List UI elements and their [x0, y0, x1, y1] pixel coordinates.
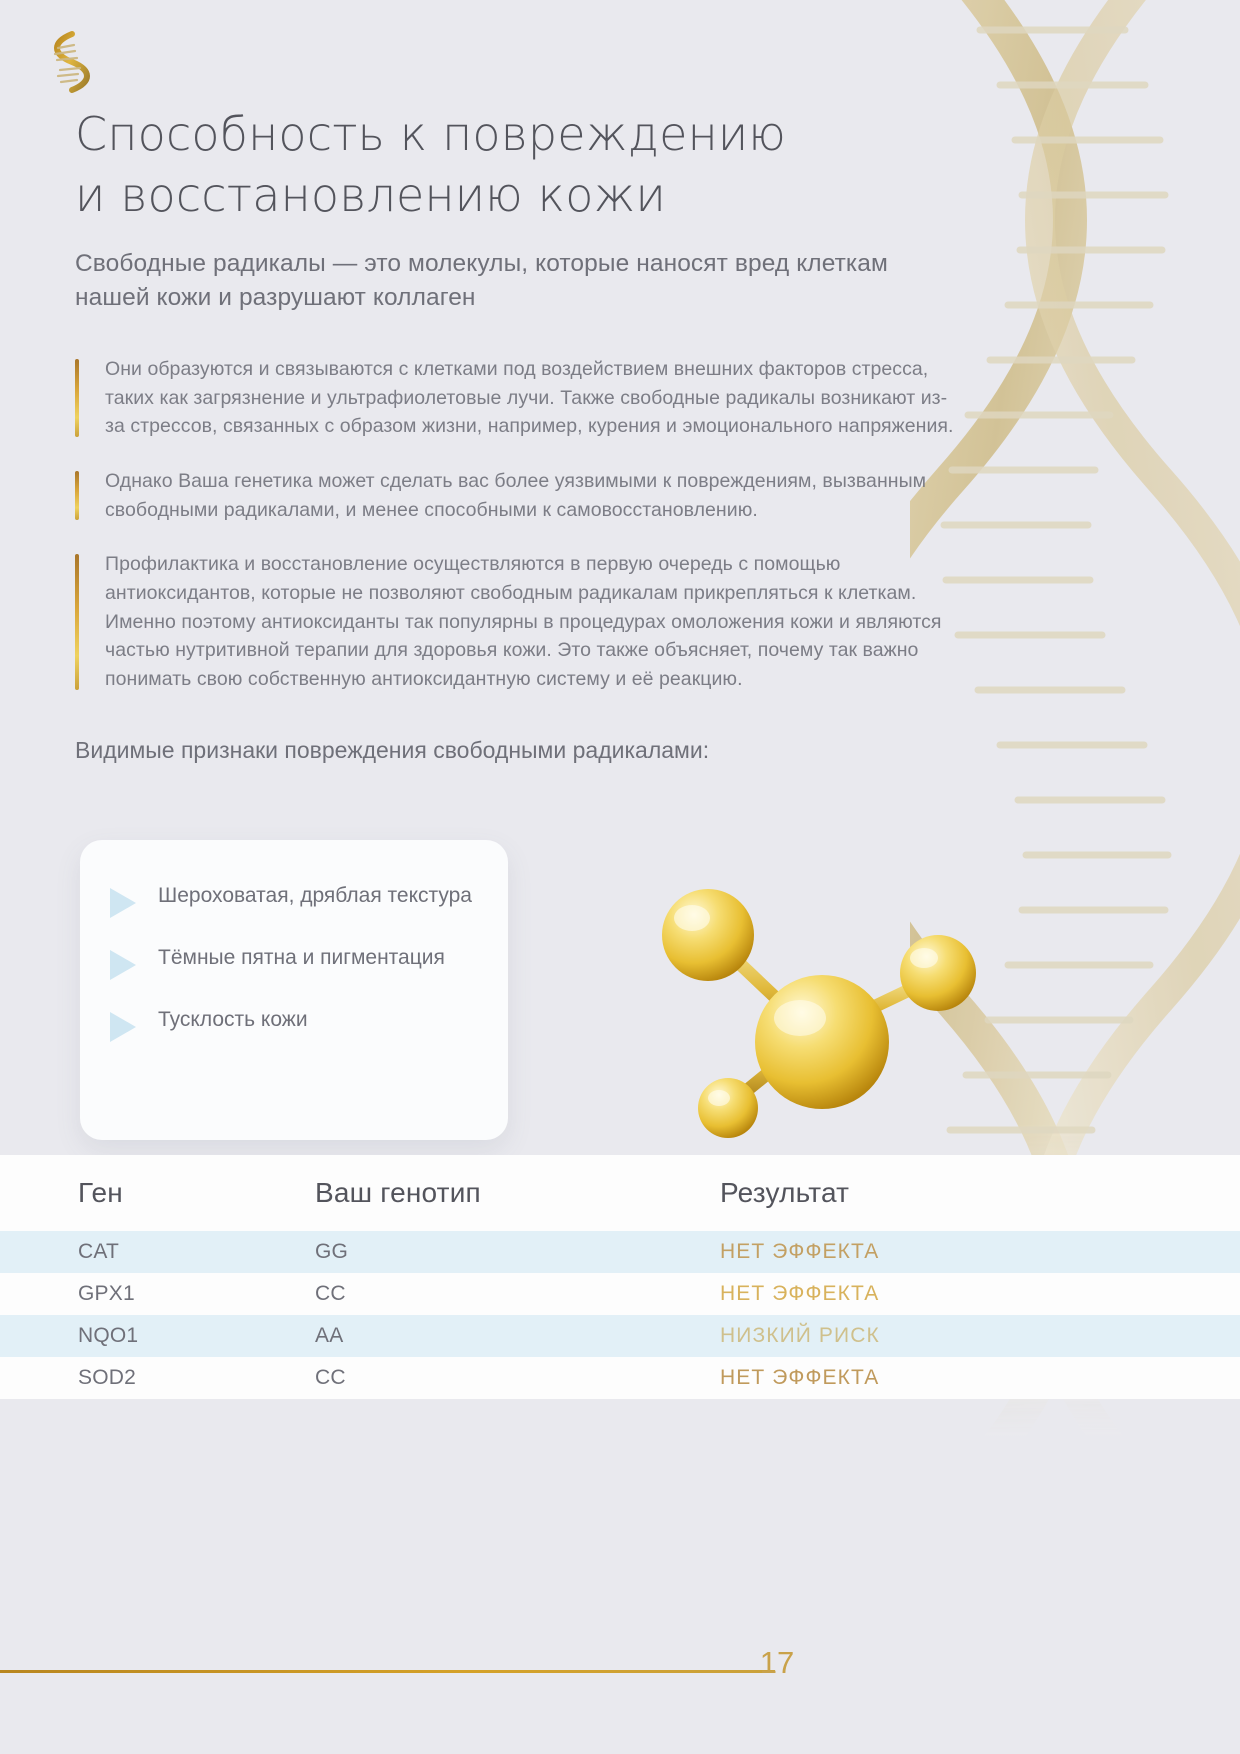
info-block-text: Однако Ваша генетика может сделать вас б…: [105, 467, 955, 524]
main-content: Способность к повреждению и восстановлен…: [75, 0, 955, 765]
column-header-result: Результат: [720, 1177, 1240, 1209]
list-item: Тусклость кожи: [80, 1006, 508, 1042]
info-block: Профилактика и восстановление осуществля…: [75, 550, 955, 693]
table-row: SOD2 CC НЕТ ЭФФЕКТА: [0, 1357, 1240, 1399]
cell-result: НЕТ ЭФФЕКТА: [720, 1240, 1240, 1264]
visible-signs-card: Шероховатая, дряблая текстура Тёмные пят…: [80, 840, 508, 1140]
cell-genotype: CC: [315, 1282, 720, 1306]
triangle-bullet-icon: [110, 1012, 136, 1042]
cell-gene: CAT: [0, 1240, 315, 1264]
list-item-label: Тёмные пятна и пигментация: [158, 944, 445, 972]
accent-bar: [75, 359, 79, 437]
signs-heading: Видимые признаки повреждения свободными …: [75, 736, 955, 766]
cell-genotype: AA: [315, 1324, 720, 1348]
table-row: NQO1 AA НИЗКИЙ РИСК: [0, 1315, 1240, 1357]
page-title-line-2: и восстановлению кожи: [75, 165, 955, 226]
page-subtitle: Свободные радикалы — это молекулы, котор…: [75, 247, 955, 315]
accent-bar: [75, 471, 79, 520]
list-item: Тёмные пятна и пигментация: [80, 944, 508, 980]
cell-result: НИЗКИЙ РИСК: [720, 1324, 1240, 1348]
signs-list: Шероховатая, дряблая текстура Тёмные пят…: [80, 840, 508, 1042]
triangle-bullet-icon: [110, 950, 136, 980]
table-header-row: Ген Ваш генотип Результат: [0, 1155, 1240, 1231]
triangle-bullet-icon: [110, 888, 136, 918]
column-header-genotype: Ваш генотип: [315, 1177, 720, 1209]
page-number: 17: [737, 1645, 817, 1681]
info-block: Они образуются и связываются с клетками …: [75, 355, 955, 441]
table-row: GPX1 CC НЕТ ЭФФЕКТА: [0, 1273, 1240, 1315]
info-block-list: Они образуются и связываются с клетками …: [75, 355, 955, 694]
info-block: Однако Ваша генетика может сделать вас б…: [75, 467, 955, 524]
list-item: Шероховатая, дряблая текстура: [80, 882, 508, 918]
list-item-label: Шероховатая, дряблая текстура: [158, 882, 472, 910]
gold-molecule-illustration: [560, 830, 1060, 1160]
genotype-results-table: Ген Ваш генотип Результат CAT GG НЕТ ЭФФ…: [0, 1155, 1240, 1399]
report-page: Способность к повреждению и восстановлен…: [0, 0, 1240, 1754]
cell-gene: GPX1: [0, 1282, 315, 1306]
list-item-label: Тусклость кожи: [158, 1006, 308, 1034]
cell-gene: SOD2: [0, 1366, 315, 1390]
page-title-line-1: Способность к повреждению: [75, 107, 786, 161]
column-header-gene: Ген: [0, 1177, 315, 1209]
table-row: CAT GG НЕТ ЭФФЕКТА: [0, 1231, 1240, 1273]
cell-genotype: CC: [315, 1366, 720, 1390]
cell-genotype: GG: [315, 1240, 720, 1264]
cell-result: НЕТ ЭФФЕКТА: [720, 1366, 1240, 1390]
footer: [0, 1580, 1240, 1754]
cell-gene: NQO1: [0, 1324, 315, 1348]
page-title: Способность к повреждению и восстановлен…: [75, 0, 955, 225]
accent-bar: [75, 554, 79, 689]
footer-rule: [0, 1670, 775, 1673]
info-block-text: Они образуются и связываются с клетками …: [105, 355, 955, 441]
info-block-text: Профилактика и восстановление осуществля…: [105, 550, 955, 693]
cell-result: НЕТ ЭФФЕКТА: [720, 1282, 1240, 1306]
